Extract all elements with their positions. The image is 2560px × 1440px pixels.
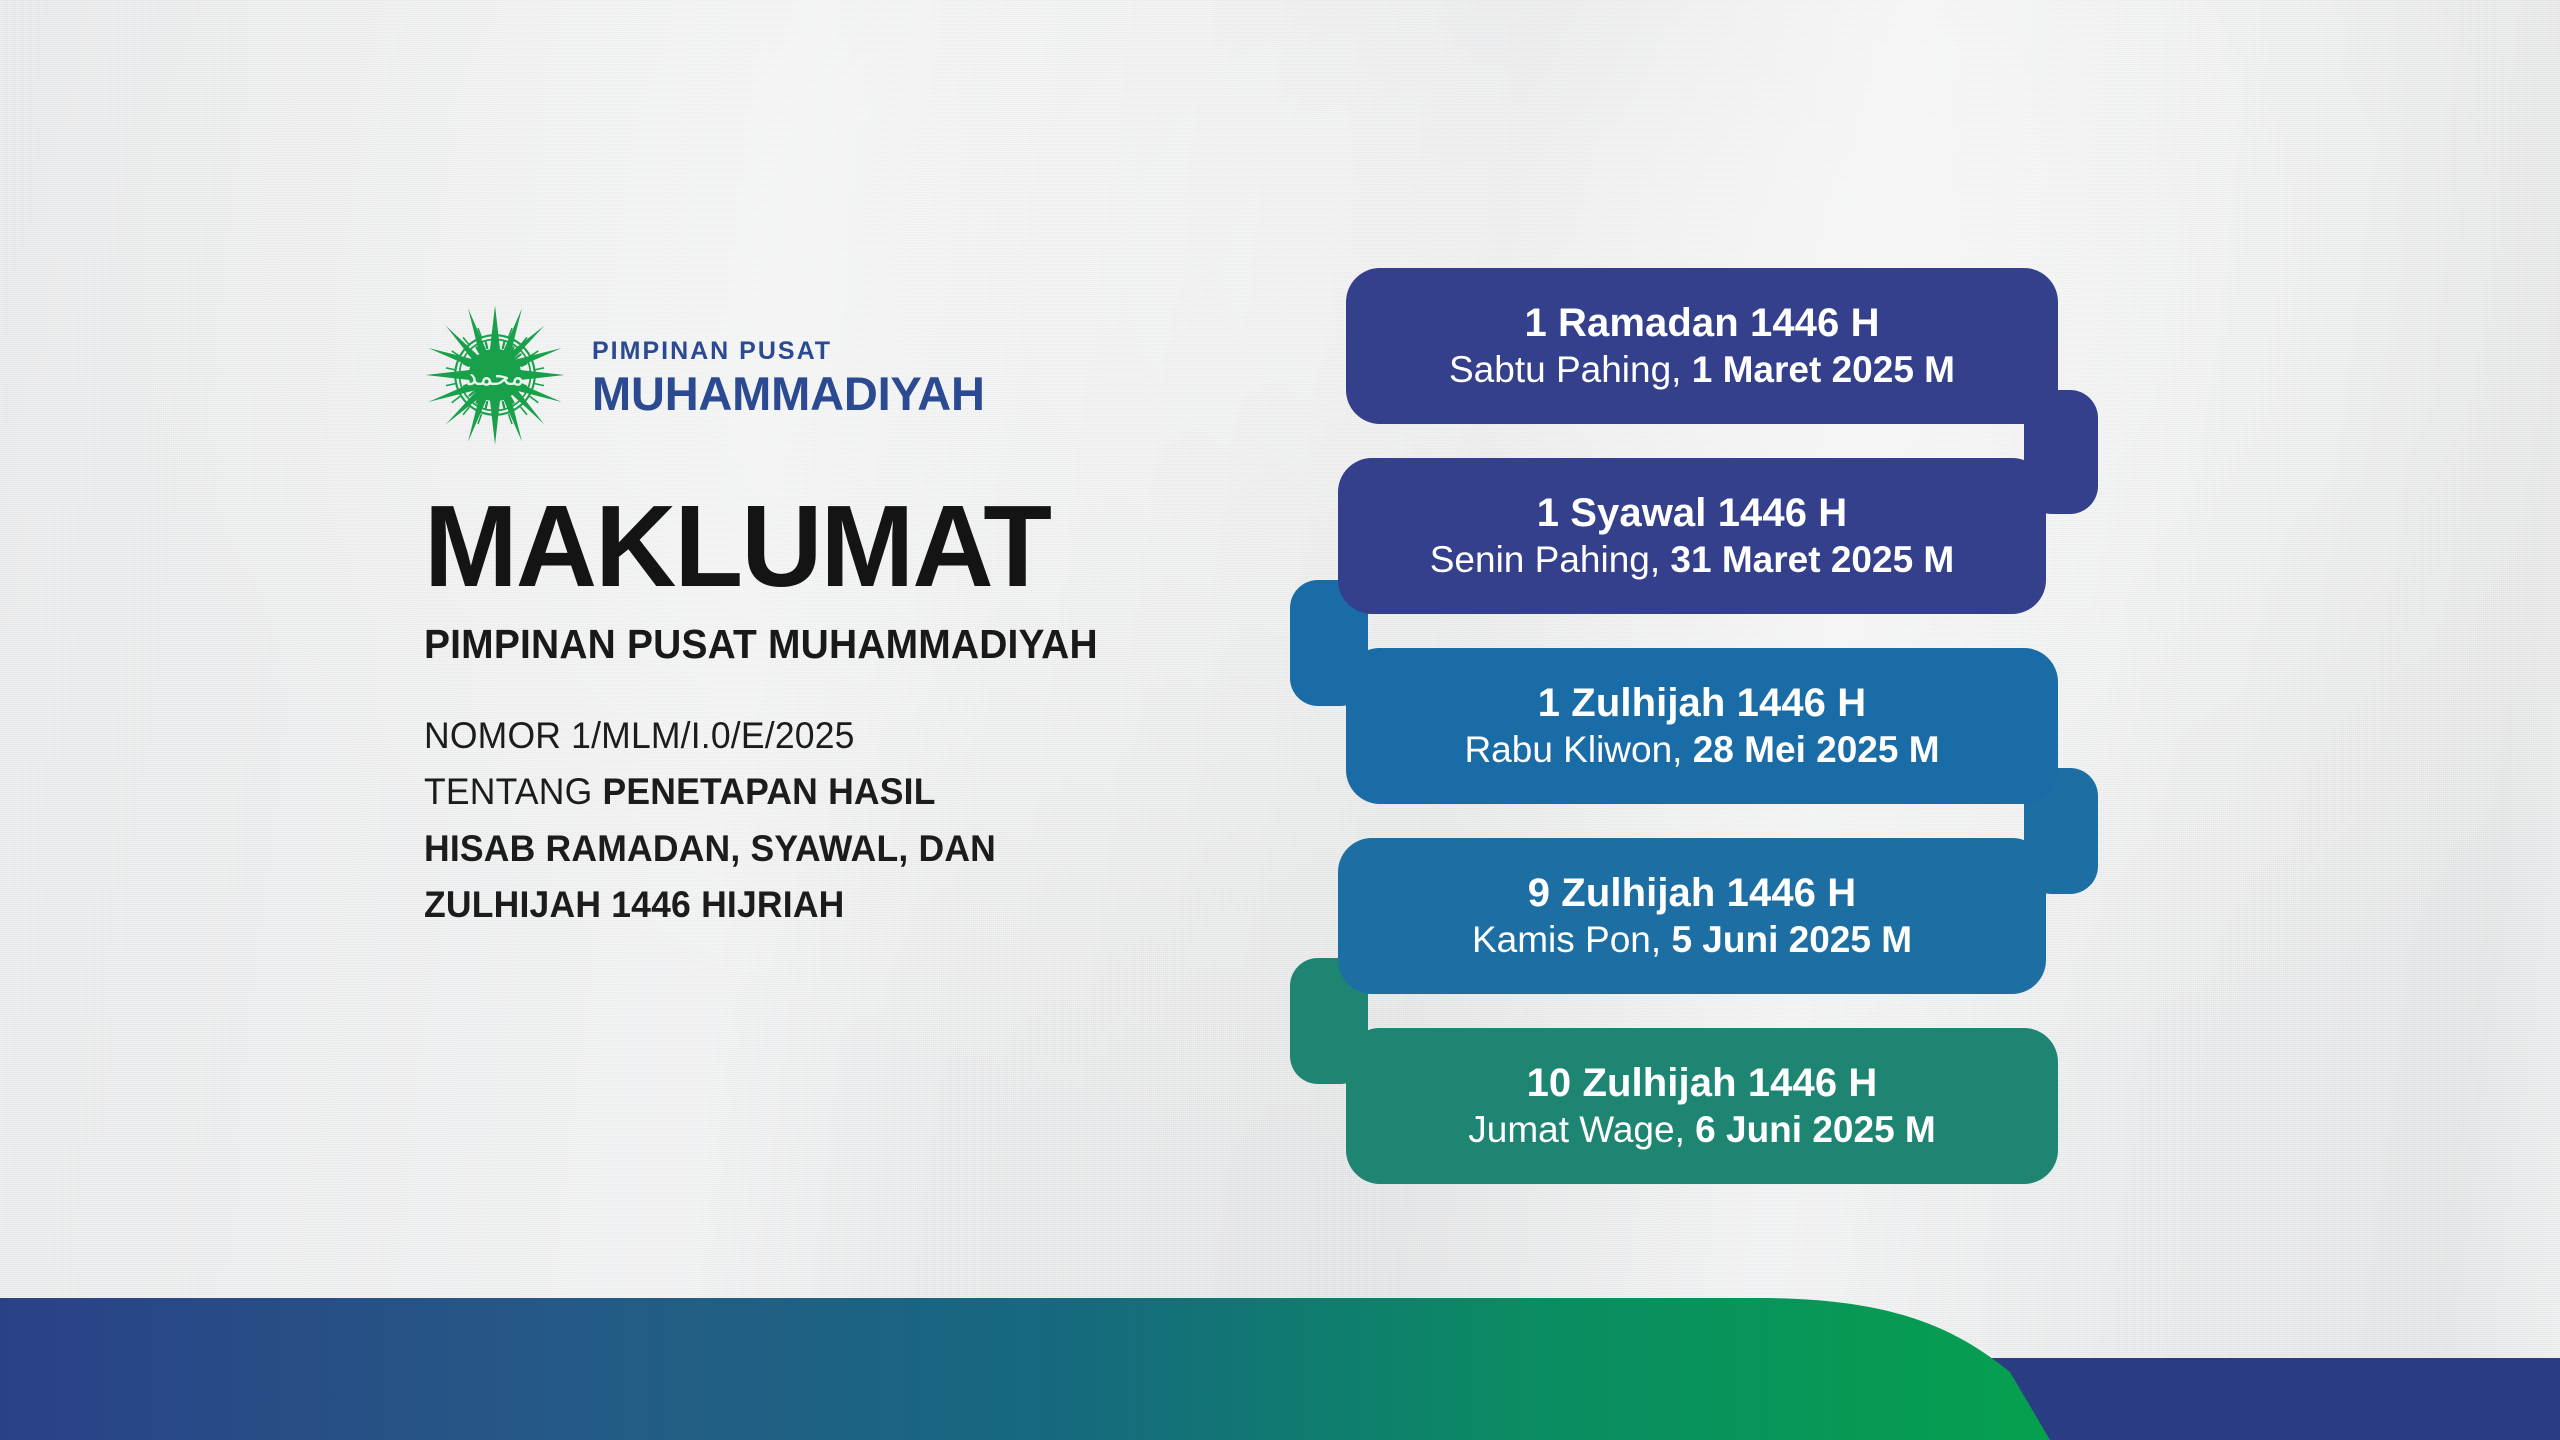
date-card-zulhijah-1[interactable]: 1 Zulhijah 1446 H Rabu Kliwon, 28 Mei 20… [1346,648,2058,804]
card-hijri-date: 1 Zulhijah 1446 H [1538,680,1866,726]
doc-subject-line3: HISAB RAMADAN, SYAWAL, DAN [424,828,996,869]
card-gregorian-bold: 6 Juni 2025 M [1695,1109,1936,1150]
brand-line-1: PIMPINAN PUSAT [592,338,985,366]
card-weekday: Jumat Wage, [1468,1109,1695,1150]
document-reference-block: NOMOR 1/MLM/I.0/E/2025 TENTANG PENETAPAN… [424,708,1304,933]
date-card-ramadan[interactable]: 1 Ramadan 1446 H Sabtu Pahing, 1 Maret 2… [1346,268,2058,424]
doc-line-number: NOMOR 1/MLM/I.0/E/2025 [424,708,1269,764]
card-gregorian-bold: 5 Juni 2025 M [1671,919,1912,960]
card-hijri-date: 10 Zulhijah 1446 H [1527,1060,1878,1106]
card-gregorian-date: Jumat Wage, 6 Juni 2025 M [1468,1108,1936,1152]
card-gregorian-date: Senin Pahing, 31 Maret 2025 M [1430,538,1955,582]
card-gregorian-date: Rabu Kliwon, 28 Mei 2025 M [1464,728,1939,772]
doc-line-subject-2: HISAB RAMADAN, SYAWAL, DAN [424,821,1269,877]
card-weekday: Sabtu Pahing, [1449,349,1692,390]
card-weekday: Senin Pahing, [1430,539,1671,580]
brand-wordmark: PIMPINAN PUSAT MUHAMMADIYAH [592,332,985,418]
poster-canvas: محمد PIMPINAN PUSAT MUHAMMADIYAH MAKLUMA… [0,0,2560,1440]
doc-number-text: NOMOR 1/MLM/I.0/E/2025 [424,715,855,756]
card-gregorian-date: Sabtu Pahing, 1 Maret 2025 M [1449,348,1955,392]
card-gregorian-bold: 31 Maret 2025 M [1670,539,1954,580]
page-subtitle: PIMPINAN PUSAT MUHAMMADIYAH [424,623,1260,666]
banner-gradient-sweep [0,1298,2050,1440]
svg-text:محمد: محمد [466,362,524,392]
bottom-decorative-banner [0,1240,2560,1440]
hijri-date-card-stack: 1 Ramadan 1446 H Sabtu Pahing, 1 Maret 2… [1338,268,2098,1168]
date-card-zulhijah-10[interactable]: 10 Zulhijah 1446 H Jumat Wage, 6 Juni 20… [1346,1028,2058,1184]
muhammadiyah-sun-emblem-icon: محمد [424,304,566,446]
page-title: MAKLUMAT [424,492,1278,601]
doc-line-subject-3: ZULHIJAH 1446 HIJRIAH [424,877,1269,933]
card-hijri-date: 1 Ramadan 1446 H [1524,300,1879,346]
date-card-zulhijah-9[interactable]: 9 Zulhijah 1446 H Kamis Pon, 5 Juni 2025… [1338,838,2046,994]
card-hijri-date: 9 Zulhijah 1446 H [1528,870,1856,916]
card-weekday: Kamis Pon, [1472,919,1671,960]
doc-line-subject: TENTANG PENETAPAN HASIL [424,764,1269,820]
left-content-column: محمد PIMPINAN PUSAT MUHAMMADIYAH MAKLUMA… [424,300,1304,933]
brand-lockup: محمد PIMPINAN PUSAT MUHAMMADIYAH [424,300,1304,450]
card-hijri-date: 1 Syawal 1446 H [1537,490,1848,536]
doc-subject-line4: ZULHIJAH 1446 HIJRIAH [424,884,845,925]
doc-subject-bold: PENETAPAN HASIL [602,771,935,812]
card-weekday: Rabu Kliwon, [1464,729,1692,770]
doc-tentang-text: TENTANG [424,771,602,812]
card-gregorian-bold: 1 Maret 2025 M [1692,349,1955,390]
date-card-syawal[interactable]: 1 Syawal 1446 H Senin Pahing, 31 Maret 2… [1338,458,2046,614]
card-gregorian-date: Kamis Pon, 5 Juni 2025 M [1472,918,1912,962]
brand-line-2: MUHAMMADIYAH [592,369,985,418]
card-gregorian-bold: 28 Mei 2025 M [1693,729,1940,770]
